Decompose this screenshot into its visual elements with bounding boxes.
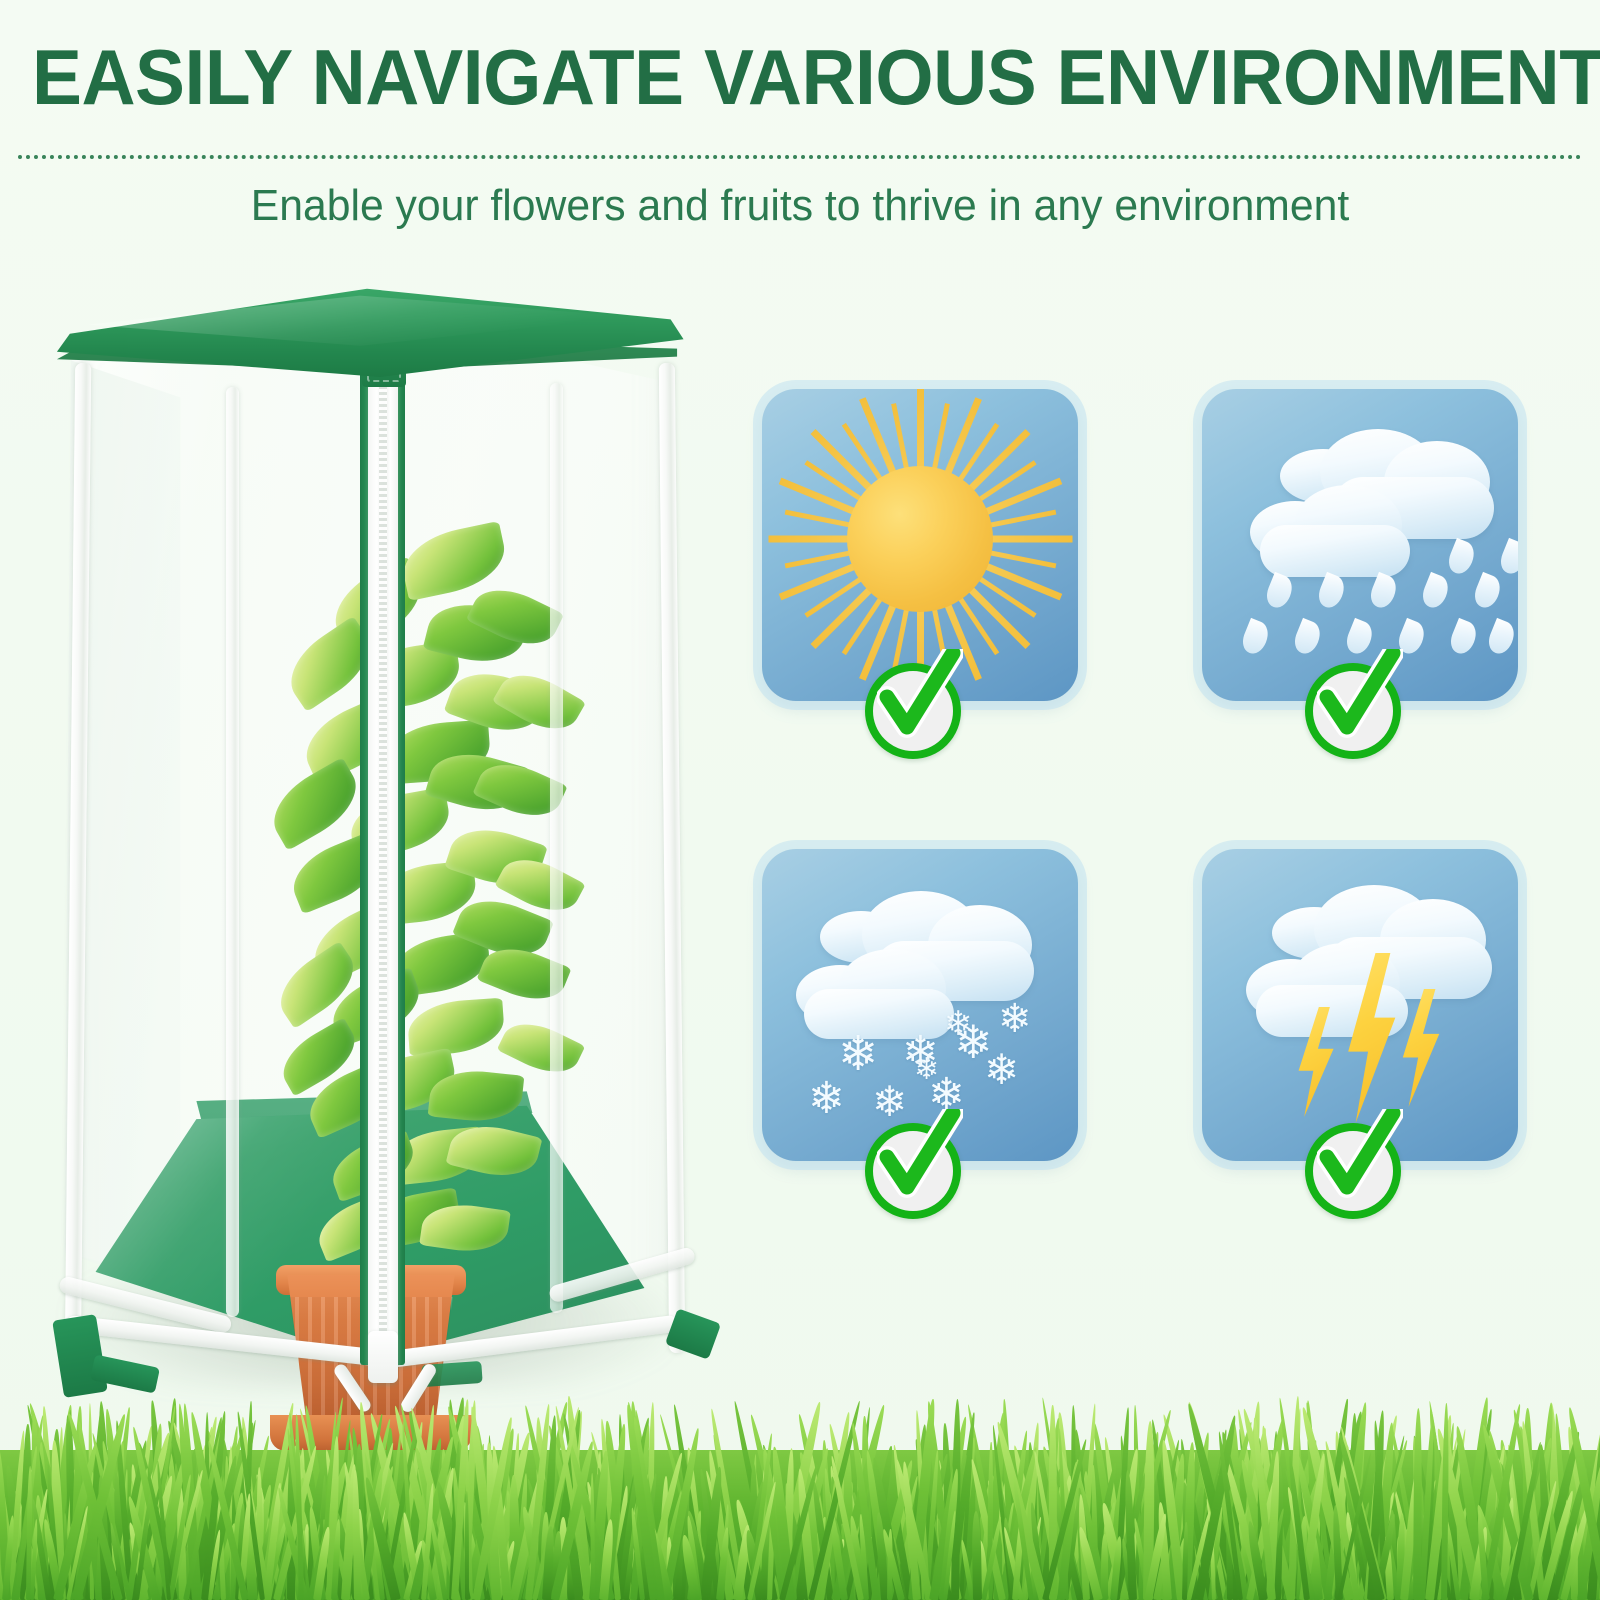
page-title: EASILY NAVIGATE VARIOUS ENVIRONMENTS bbox=[32, 34, 1568, 120]
frame-pole-back-right bbox=[550, 383, 563, 1313]
page-stage: EASILY NAVIGATE VARIOUS ENVIRONMENTS Ena… bbox=[0, 0, 1600, 1600]
status-badge-stormy bbox=[1305, 1123, 1401, 1219]
raindrop bbox=[1447, 618, 1481, 657]
raindrop bbox=[1263, 572, 1297, 611]
raindrop bbox=[1367, 572, 1401, 611]
grass-blade bbox=[887, 1529, 893, 1600]
frame-pole-back-left bbox=[226, 387, 239, 1317]
check-icon bbox=[877, 1109, 963, 1201]
page-subtitle: Enable your flowers and fruits to thrive… bbox=[24, 176, 1576, 236]
raindrop bbox=[1497, 538, 1518, 577]
status-badge-snowy bbox=[865, 1123, 961, 1219]
snowflake: ❄ bbox=[998, 999, 1032, 1039]
sun-core bbox=[847, 466, 993, 612]
raindrop bbox=[1485, 618, 1518, 657]
raindrop bbox=[1315, 572, 1349, 611]
snowflake: ❄ bbox=[808, 1077, 845, 1121]
raindrop bbox=[1419, 572, 1453, 611]
status-badge-rainy bbox=[1305, 663, 1401, 759]
zipper-teeth bbox=[379, 353, 387, 1361]
grass-strip bbox=[0, 1332, 1600, 1600]
raindrop bbox=[1471, 572, 1505, 611]
check-icon bbox=[1317, 1109, 1403, 1201]
snowflake: ❄ bbox=[914, 1055, 939, 1085]
status-badge-sunny bbox=[865, 663, 961, 759]
raindrop bbox=[1239, 618, 1273, 657]
grass-blade bbox=[1101, 1534, 1108, 1600]
raindrop bbox=[1445, 538, 1479, 577]
snowflake: ❄ bbox=[838, 1031, 878, 1079]
check-icon bbox=[1317, 649, 1403, 741]
snowflake: ❄ bbox=[984, 1049, 1019, 1091]
header-divider bbox=[18, 155, 1582, 159]
check-icon bbox=[877, 649, 963, 741]
product-image bbox=[30, 275, 730, 1380]
